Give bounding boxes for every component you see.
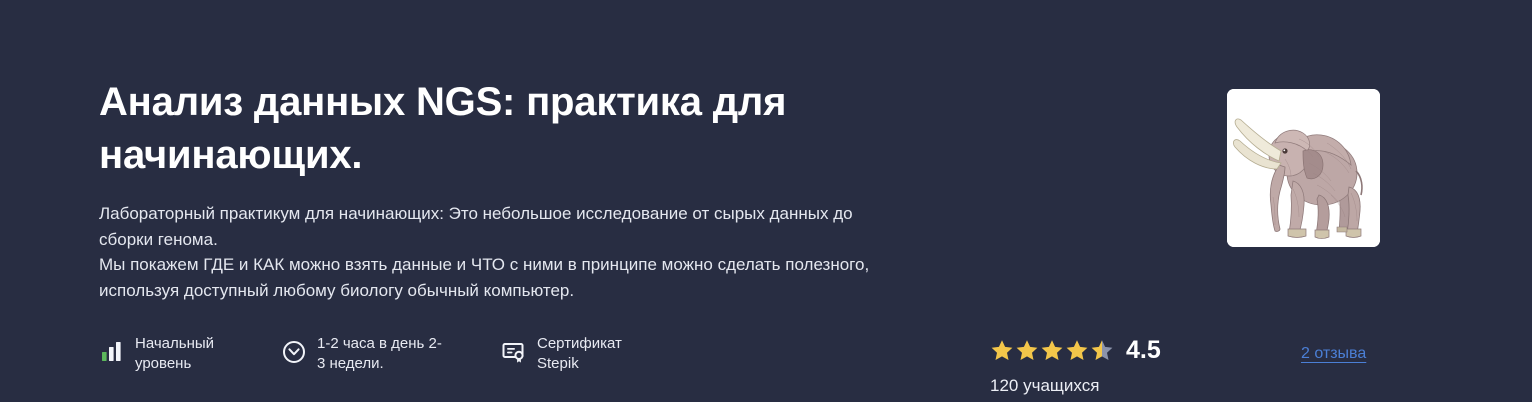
rating-block: 4.5 120 учащихся [990, 336, 1240, 396]
course-cover-image [1227, 89, 1380, 247]
course-summary-line-2: Мы покажем ГДЕ и КАК можно взять данные … [99, 252, 911, 303]
star-icon-filled-1 [990, 338, 1014, 362]
meta-item-duration-label: 1-2 часа в день 2-3 недели. [317, 334, 447, 374]
star-icon-half-5 [1090, 338, 1114, 362]
page-title: Анализ данных NGS: практика для начинающ… [99, 76, 859, 182]
meta-item-level: Начальный уровень [99, 334, 227, 374]
certificate-icon [501, 339, 527, 365]
meta-item-certificate: Сертификат Stepik [501, 334, 647, 374]
meta-item-level-label: Начальный уровень [135, 334, 227, 374]
meta-item-duration: 1-2 часа в день 2-3 недели. [281, 334, 447, 374]
star-icon-filled-4 [1065, 338, 1089, 362]
clock-icon [281, 339, 307, 365]
course-header-page: Анализ данных NGS: практика для начинающ… [0, 0, 1532, 402]
bar-chart-level-icon [99, 339, 125, 365]
rating-line: 4.5 [990, 336, 1240, 364]
course-main-column: Анализ данных NGS: практика для начинающ… [99, 76, 919, 303]
course-summary: Лабораторный практикум для начинающих: Э… [99, 201, 911, 303]
star-rating [990, 338, 1115, 362]
reviews-link[interactable]: 2 отзыва [1301, 344, 1366, 364]
mammoth-illustration [1227, 89, 1380, 247]
rating-value: 4.5 [1126, 338, 1161, 363]
star-icon-filled-2 [1015, 338, 1039, 362]
course-meta-row: Начальный уровень 1-2 часа в день 2-3 не… [99, 334, 647, 374]
course-summary-line-1: Лабораторный практикум для начинающих: Э… [99, 201, 911, 252]
learners-count: 120 учащихся [990, 376, 1240, 396]
meta-item-certificate-label: Сертификат Stepik [537, 334, 647, 374]
star-icon-filled-3 [1040, 338, 1064, 362]
